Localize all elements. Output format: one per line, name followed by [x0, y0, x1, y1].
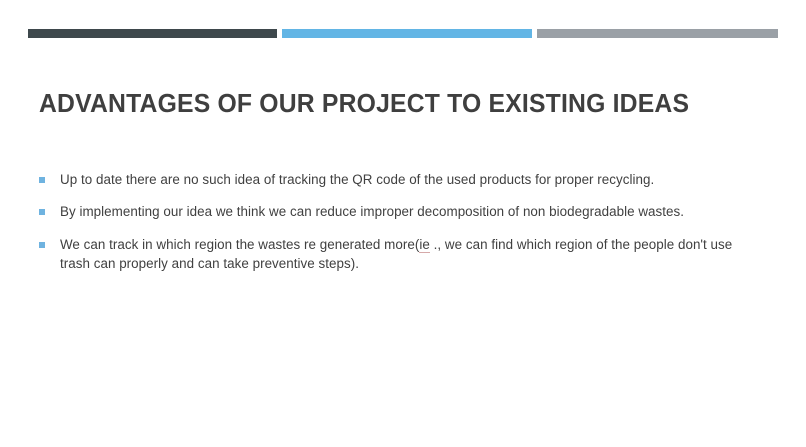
list-item: By implementing our idea we think we can…: [39, 202, 754, 222]
decor-bar-gray-segment: [537, 29, 778, 38]
list-item: Up to date there are no such idea of tra…: [39, 170, 754, 190]
bullet-list: Up to date there are no such idea of tra…: [39, 170, 754, 287]
decor-bar-dark-segment: [28, 29, 277, 38]
slide-canvas: ADVANTAGES OF OUR PROJECT TO EXISTING ID…: [0, 0, 806, 447]
spellcheck-underlined-word: ie: [419, 237, 430, 253]
decorative-top-bar: [28, 29, 778, 38]
list-item: We can track in which region the wastes …: [39, 235, 754, 275]
bullet-square-icon: [39, 209, 45, 215]
slide-title: ADVANTAGES OF OUR PROJECT TO EXISTING ID…: [39, 90, 737, 119]
decor-bar-blue-segment: [282, 29, 532, 38]
bullet-square-icon: [39, 242, 45, 248]
bullet-square-icon: [39, 177, 45, 183]
bullet-text-3: We can track in which region the wastes …: [60, 235, 754, 275]
bullet-text-3-before: We can track in which region the wastes …: [60, 237, 419, 252]
bullet-text-1: Up to date there are no such idea of tra…: [60, 170, 754, 190]
bullet-text-2: By implementing our idea we think we can…: [60, 202, 754, 222]
